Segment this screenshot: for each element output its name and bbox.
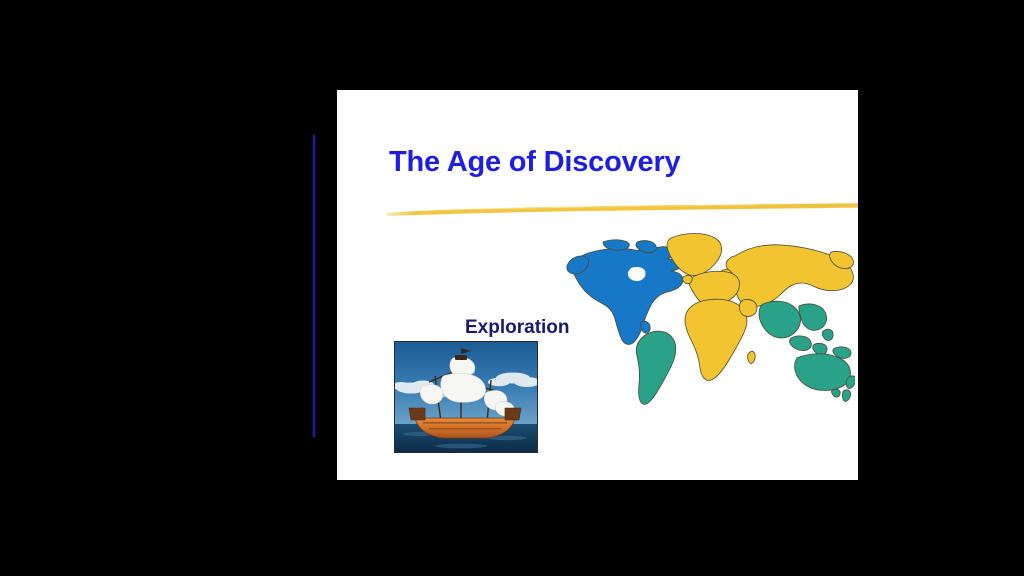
left-accent-rule [313,135,315,437]
ship-forecastle [409,408,425,420]
region-indonesia [790,336,812,351]
yellow-brush-divider [385,198,858,220]
ship-sterncastle [505,408,521,420]
region-philippines [822,329,833,340]
world-map-graphic [559,226,855,410]
sailing-ship-photo [394,341,538,453]
region-arctic-islands [603,240,629,250]
presentation-slide: The Age of Discovery [337,90,858,480]
hudson-bay [628,267,646,281]
region-british-isles [683,275,693,284]
slide-viewer: The Age of Discovery [0,0,1024,576]
region-tasmania [832,389,841,397]
region-south-america [636,331,675,404]
region-africa [685,299,747,380]
subtitle-exploration: Exploration [465,318,570,337]
region-madagascar [748,351,756,363]
region-south-asia [759,301,800,338]
region-borneo [813,343,827,354]
region-central-america [641,321,650,333]
region-australia [795,354,851,391]
region-arabia [739,299,757,316]
region-indochina [799,304,827,330]
region-new-zealand-south [842,390,850,402]
page-title: The Age of Discovery [389,148,839,177]
